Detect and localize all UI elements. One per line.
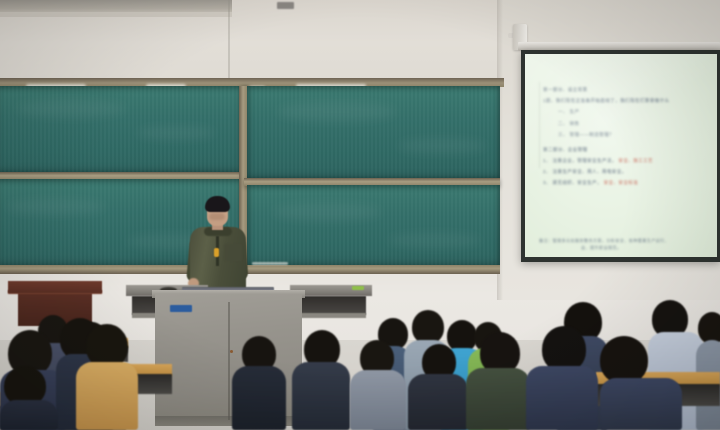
student-body: [232, 366, 286, 430]
slide-item-3-text: 3、 建无组织、安全生产，: [543, 180, 602, 185]
blackboard-bottom-frame: [244, 265, 500, 274]
power-indicator-icon: [352, 286, 364, 290]
slide-option-3: 三、 管理——制造管理？: [543, 133, 707, 138]
blackboard-panel-left-upper: [0, 86, 242, 174]
chalk-piece: [252, 262, 288, 265]
list-item: [350, 340, 406, 430]
ceiling-beam-shadow: [0, 12, 232, 17]
student-body: [350, 370, 406, 430]
projected-slide: 第一部分、设立背景 1题、我们现在正准备开始启动了，我们现在打算要做什么 一、 …: [525, 54, 717, 257]
instructor-zipper-pull: [214, 248, 219, 257]
list-item: [466, 332, 530, 430]
slide-item-2-text: 2、 注重生产安全、用人、用电安全。: [543, 169, 627, 174]
console-brand-label: [170, 305, 192, 312]
chalk-smudge: [272, 203, 382, 221]
console-door-seam: [228, 302, 230, 420]
instructor-hair: [205, 196, 230, 212]
list-item: [232, 336, 286, 430]
slide-item-1-text: 1、 注重企业，管理安全生产法，: [543, 158, 617, 163]
classroom-photo: 第一部分、设立背景 1题、我们现在正准备开始启动了，我们现在打算要做什么 一、 …: [0, 0, 720, 430]
chalk-smudge: [6, 199, 106, 215]
wooden-lectern-top: [8, 281, 102, 293]
student-body: [408, 374, 468, 430]
right-desk-front: [296, 313, 366, 318]
list-item: [408, 344, 468, 430]
slide-item-3-highlight: 安全、安全标准: [604, 180, 639, 185]
slide-item-3: 3、 建无组织、安全生产， 安全、安全标准: [543, 181, 707, 186]
chalk-smudge: [136, 126, 216, 140]
student-body: [0, 400, 58, 430]
projector-screen: 第一部分、设立背景 1题、我们现在正准备开始启动了，我们现在打算要做什么 一、 …: [521, 50, 720, 262]
slide-item-1-highlight: 安全、施工工艺: [618, 158, 653, 163]
slide-option-2: 二、 销售: [543, 122, 707, 127]
list-item: [292, 330, 350, 430]
list-item: [76, 324, 138, 430]
slide-question: 1题、我们现在正准备开始启动了，我们现在打算要做什么: [543, 99, 707, 104]
list-item: [0, 366, 58, 430]
list-item: [526, 326, 598, 430]
student-body: [466, 368, 530, 430]
instructor-jacket-pocket: [224, 244, 242, 261]
list-item: [600, 336, 680, 430]
slide-section-one-heading: 第一部分、设立背景: [543, 88, 707, 93]
student-body: [600, 378, 682, 430]
student-body: [76, 362, 138, 430]
chalk-smudge: [387, 233, 482, 248]
slide-footer-line-1: 备注：管理多元化服务整合方案，分析安全、各种要素生产运行、: [539, 238, 669, 244]
instructor-face-shadow: [209, 213, 225, 220]
blackboard-panel-right-upper: [247, 86, 500, 180]
slide-section-two-heading: 第二部分、企业管理: [543, 148, 707, 153]
slide-item-2: 2、 注重生产安全、用人、用电安全。: [543, 170, 707, 175]
student-body: [292, 362, 350, 430]
chalk-smudge: [16, 100, 126, 118]
student-head: [600, 336, 648, 384]
list-item: [696, 312, 720, 430]
slide-footer-line-2: 会、提升职业规范。: [581, 245, 621, 251]
slide-option-1: 一、 生产: [543, 110, 707, 115]
slide-item-1: 1、 注重企业，管理安全生产法， 安全、施工工艺: [543, 159, 707, 164]
chalk-smudge: [397, 138, 487, 154]
projection-surface: 第一部分、设立背景 1题、我们现在正准备开始启动了，我们现在打算要做什么 一、 …: [525, 54, 717, 257]
slide-margin-rule: [539, 82, 540, 168]
wall-speaker-icon: [277, 2, 294, 9]
chalk-smudge: [277, 102, 397, 122]
student-body: [526, 366, 598, 430]
blackboard-panel-right-lower: [247, 185, 500, 267]
